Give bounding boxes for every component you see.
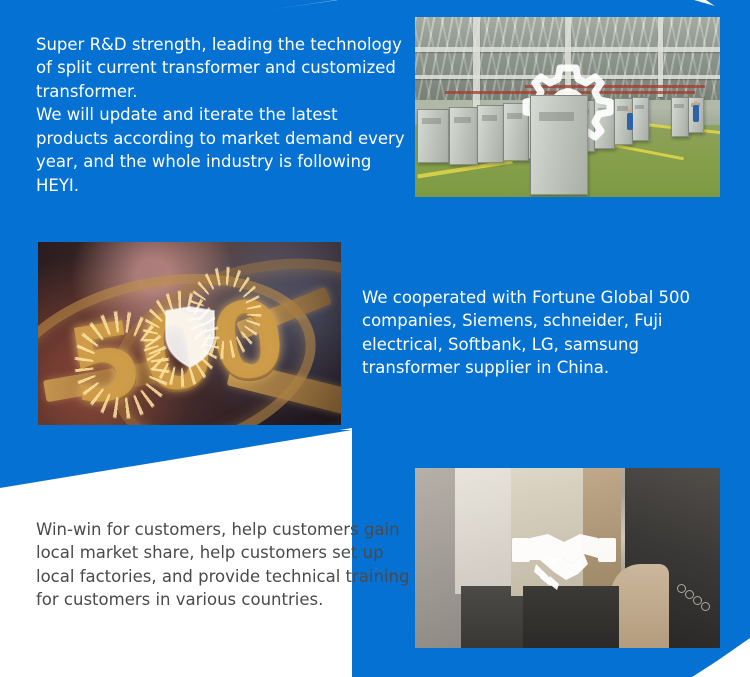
switchgear-cabinet — [594, 99, 615, 149]
switchgear-cabinet — [417, 109, 449, 163]
fortune-500-photo: 500 — [38, 242, 341, 425]
factory-production-line-photo — [415, 17, 720, 197]
switchgear-cabinet — [477, 105, 504, 163]
fortune-500-text: We cooperated with Fortune Global 500 co… — [362, 286, 740, 380]
factory-red-pipe — [445, 91, 695, 94]
rnd-strength-text: Super R&D strength, leading the technolo… — [36, 33, 408, 197]
factory-column — [473, 17, 480, 113]
factory-red-pipe — [525, 85, 705, 88]
business-handshake-photo — [415, 468, 720, 648]
person-center-trousers — [523, 586, 619, 648]
clasped-hands — [611, 564, 669, 648]
switchgear-cabinet — [503, 103, 529, 161]
factory-worker — [693, 105, 699, 122]
person-left-blouse — [455, 468, 517, 594]
switchgear-cabinet — [632, 97, 649, 141]
switchgear-cabinet — [449, 107, 478, 165]
switchgear-cabinet-foreground — [530, 95, 588, 195]
win-win-customers-text: Win-win for customers, help customers ga… — [36, 518, 414, 612]
switchgear-cabinet — [671, 97, 689, 137]
cuff-button — [701, 602, 710, 611]
person-center-shirt — [583, 468, 621, 588]
bokeh-dot-ring — [186, 265, 263, 362]
person-center-jacket — [511, 468, 589, 596]
company-advantages-banner: Super R&D strength, leading the technolo… — [0, 0, 750, 677]
factory-worker — [627, 113, 633, 130]
